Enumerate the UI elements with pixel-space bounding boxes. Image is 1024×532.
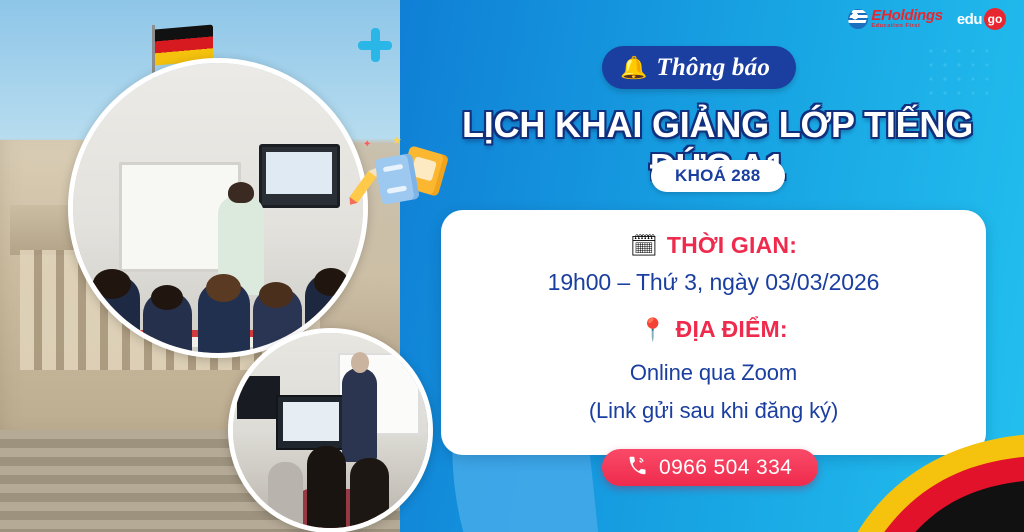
place-value-line1: Online qua Zoom (589, 359, 838, 387)
classroom-scene (73, 63, 363, 353)
student-head (206, 274, 241, 302)
attendee-figure (307, 446, 346, 528)
eholdings-mark-icon (848, 9, 868, 29)
edugo-logo[interactable]: edu go (957, 8, 1006, 30)
lecture-scene (233, 333, 428, 528)
edugo-word: edu (957, 11, 982, 28)
classroom-photo-bottom (228, 328, 433, 532)
time-heading: 🗓 THỜI GIAN: (630, 232, 797, 259)
announcement-banner: ✦ ★ ✦ ★ EHoldings Education First edu go… (0, 0, 1024, 532)
student-head (259, 282, 294, 308)
wall-monitor (259, 144, 340, 208)
eholdings-logo[interactable]: EHoldings Education First (848, 9, 942, 29)
place-label: ĐỊA ĐIỂM: (676, 316, 788, 343)
bell-icon: 🔔 (620, 57, 647, 79)
location-pin-icon: 📍 (639, 319, 666, 341)
lecture-screen (276, 395, 346, 450)
phone-number: 0966 504 334 (659, 456, 792, 480)
photo-collage (0, 0, 440, 532)
sparkle-icon: ★ (392, 136, 402, 147)
student-head (151, 285, 183, 310)
course-code-label: KHOÁ 288 (675, 166, 761, 186)
info-card: 🗓 THỜI GIAN: 19h00 – Thứ 3, ngày 03/03/2… (441, 210, 986, 455)
notice-badge: 🔔 Thông báo (602, 46, 796, 89)
place-heading: 📍 ĐỊA ĐIỂM: (639, 316, 788, 343)
lecture-side-screen (237, 376, 280, 419)
student-head (314, 268, 349, 296)
phone-icon (628, 456, 647, 479)
calendar-clock-icon: 🗓 (630, 235, 658, 257)
speaker-figure (342, 368, 377, 462)
course-code-badge: KHOÁ 288 (651, 160, 785, 192)
dot-grid-decoration (924, 44, 996, 102)
logo-group: EHoldings Education First edu go (848, 8, 1006, 30)
edugo-mark-icon: go (984, 8, 1006, 30)
student-head (93, 269, 131, 299)
attendee-figure (268, 462, 303, 528)
time-value: 19h00 – Thứ 3, ngày 03/03/2026 (548, 269, 880, 296)
attendee-figure (350, 458, 389, 528)
notice-badge-label: Thông báo (656, 54, 770, 82)
eholdings-name: EHoldings (871, 9, 942, 23)
eholdings-tagline: Education First (871, 24, 942, 29)
phone-button[interactable]: 0966 504 334 (602, 449, 818, 486)
classroom-photo-top (68, 58, 368, 358)
book-blue-icon (374, 153, 419, 205)
place-value-line2: (Link gửi sau khi đăng ký) (589, 397, 838, 425)
time-label: THỜI GIAN: (667, 232, 797, 259)
plus-icon (358, 28, 392, 62)
